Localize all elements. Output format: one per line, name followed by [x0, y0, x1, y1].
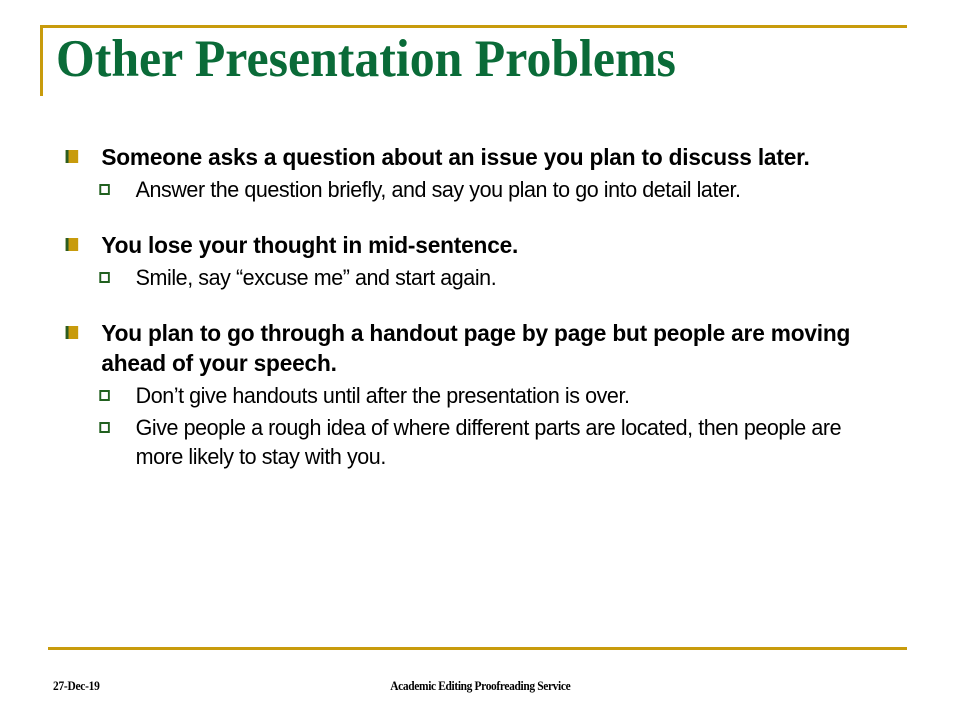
- list-item-label: Someone asks a question about an issue y…: [101, 144, 809, 170]
- list-item: You lose your thought in mid-sentence.: [0, 230, 926, 260]
- footer-center-text: Academic Editing Proofreading Service: [0, 678, 960, 694]
- list-item: Give people a rough idea of where differ…: [0, 413, 917, 471]
- list-item: Answer the question briefly, and say you…: [0, 175, 917, 204]
- list-item-label: You plan to go through a handout page by…: [101, 320, 850, 376]
- list-item: You plan to go through a handout page by…: [0, 318, 926, 378]
- footer-rule: [48, 647, 907, 650]
- spacer: [0, 292, 960, 318]
- slide-body: Someone asks a question about an issue y…: [0, 142, 960, 471]
- filled-square-bullet-icon: [66, 238, 79, 251]
- filled-square-bullet-icon: [66, 150, 79, 163]
- hollow-square-bullet-icon: [99, 390, 110, 401]
- title-top-rule: [40, 25, 907, 28]
- list-item-label: Answer the question briefly, and say you…: [136, 177, 741, 202]
- hollow-square-bullet-icon: [99, 422, 110, 433]
- spacer: [0, 204, 960, 230]
- filled-square-bullet-icon: [66, 326, 79, 339]
- list-item: Someone asks a question about an issue y…: [0, 142, 926, 172]
- page-title: Other Presentation Problems: [56, 32, 864, 86]
- list-item-label: You lose your thought in mid-sentence.: [101, 232, 518, 258]
- list-item: Smile, say “excuse me” and start again.: [0, 263, 917, 292]
- presentation-slide: Other Presentation Problems Someone asks…: [0, 0, 960, 720]
- footer-center-label: Academic Editing Proofreading Service: [390, 678, 570, 694]
- list-item-label: Give people a rough idea of where differ…: [136, 415, 842, 469]
- list-item-label: Smile, say “excuse me” and start again.: [136, 265, 497, 290]
- list-item: Don’t give handouts until after the pres…: [0, 381, 917, 410]
- list-item-label: Don’t give handouts until after the pres…: [136, 383, 630, 408]
- hollow-square-bullet-icon: [99, 184, 110, 195]
- title-left-rule: [40, 25, 43, 96]
- hollow-square-bullet-icon: [99, 272, 110, 283]
